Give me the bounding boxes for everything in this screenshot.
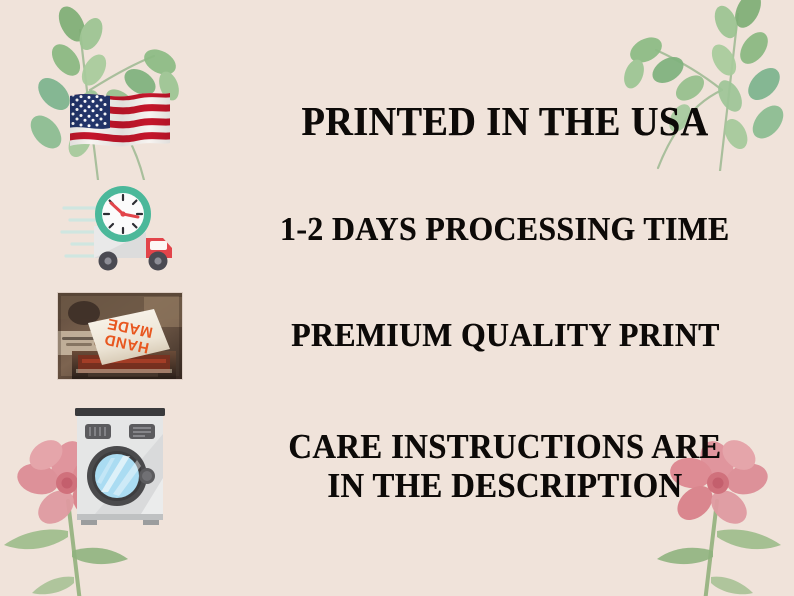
screen-printing-photo: HAND MADE <box>58 293 182 379</box>
info-row-icon-cell <box>0 404 240 528</box>
info-row-icon-cell <box>0 182 240 278</box>
info-row-printed-in-usa: PRINTED IN THE USA <box>0 68 794 176</box>
info-row-text-cell: PRINTED IN THE USA <box>240 99 794 145</box>
info-row-premium-quality: HAND MADE PREMIUM QUALITY PRINT <box>0 288 794 384</box>
info-row-text-cell: 1-2 DAYS PROCESSING TIME <box>240 211 794 249</box>
info-row-text-cell: PREMIUM QUALITY PRINT <box>240 317 794 355</box>
headline-care-instructions: CARE INSTRUCTIONS ARE IN THE DESCRIPTION <box>288 427 721 505</box>
info-graphic-canvas: PRINTED IN THE USA <box>0 0 794 596</box>
info-row-processing-time: 1-2 DAYS PROCESSING TIME <box>0 180 794 280</box>
info-row-text-cell: CARE INSTRUCTIONS ARE IN THE DESCRIPTION <box>240 427 794 505</box>
headline-printed-in-usa: PRINTED IN THE USA <box>301 99 708 145</box>
us-flag-icon <box>68 88 172 156</box>
headline-processing-time: 1-2 DAYS PROCESSING TIME <box>280 211 730 249</box>
info-row-care-instructions: CARE INSTRUCTIONS ARE IN THE DESCRIPTION <box>0 396 794 536</box>
washing-machine-icon <box>67 404 173 528</box>
fast-delivery-truck-icon <box>60 182 180 278</box>
headline-premium-quality: PREMIUM QUALITY PRINT <box>291 317 719 355</box>
info-row-icon-cell: HAND MADE <box>0 293 240 379</box>
info-row-icon-cell <box>0 88 240 156</box>
